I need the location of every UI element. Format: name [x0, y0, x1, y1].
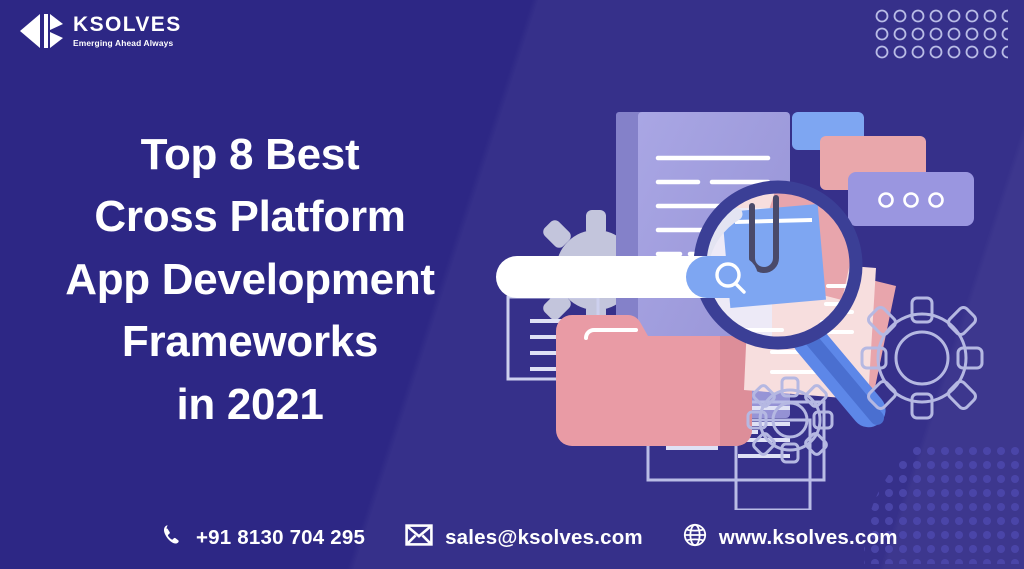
search-button-icon	[686, 256, 758, 298]
contact-email[interactable]: sales@ksolves.com	[405, 524, 643, 551]
brand-tagline: Emerging Ahead Always	[73, 39, 182, 47]
contact-phone[interactable]: +91 8130 704 295	[160, 523, 365, 552]
email-address: sales@ksolves.com	[445, 526, 643, 550]
brand-logo[interactable]: KSOLVES Emerging Ahead Always	[18, 10, 182, 52]
contact-website[interactable]: www.ksolves.com	[683, 523, 898, 552]
chat-bubble-purple-icon	[848, 172, 974, 226]
headline-line-2: Cross Platform	[0, 186, 500, 248]
headline-line-4: Frameworks	[0, 311, 500, 373]
brand-name: KSOLVES	[73, 14, 182, 35]
envelope-icon	[405, 524, 433, 551]
banner: KSOLVES Emerging Ahead Always Top 8 Best…	[0, 0, 1024, 569]
search-bar-icon	[496, 256, 758, 298]
globe-icon	[683, 523, 707, 552]
page-title: Top 8 Best Cross Platform App Developmen…	[0, 124, 500, 436]
headline-line-5: in 2021	[0, 374, 500, 436]
ksolves-play-mark-icon	[18, 10, 64, 52]
phone-icon	[160, 523, 184, 552]
contact-bar: +91 8130 704 295 sales@ksolves.com	[160, 523, 898, 552]
headline-line-3: App Development	[0, 249, 500, 311]
website-url: www.ksolves.com	[719, 526, 898, 550]
headline-line-1: Top 8 Best	[0, 124, 500, 186]
circle-dot-grid-icon	[874, 8, 1008, 65]
phone-number: +91 8130 704 295	[196, 526, 365, 550]
